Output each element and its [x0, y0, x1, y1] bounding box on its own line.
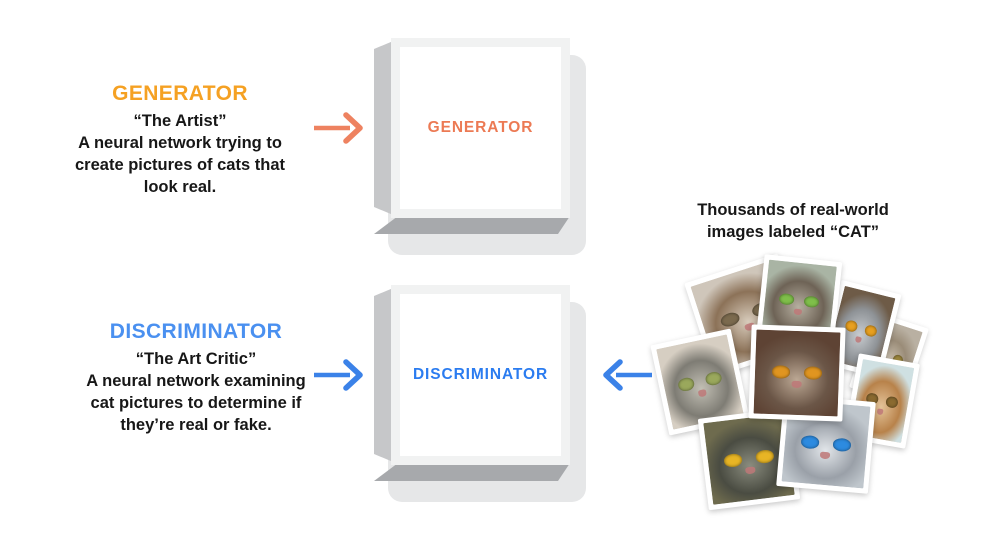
- cat-eye-r: [755, 449, 774, 463]
- discriminator-box-bottom-bevel: [374, 463, 570, 481]
- generator-box-face: GENERATOR: [391, 38, 570, 218]
- generator-box-bottom-bevel: [374, 216, 570, 234]
- cat-nose: [697, 389, 707, 397]
- dataset-caption-line-1: Thousands of real-world: [672, 200, 914, 222]
- cat-eye-r: [832, 438, 851, 452]
- discriminator-box-label: DISCRIMINATOR: [413, 366, 548, 384]
- cat-eye-l: [719, 310, 741, 329]
- discriminator-box: DISCRIMINATOR: [374, 277, 586, 505]
- cat-nose: [793, 308, 802, 315]
- generator-description-block: GENERATOR “The Artist” A neural network …: [56, 80, 304, 199]
- cat-eye-l: [778, 293, 794, 306]
- cat-eye-l: [772, 365, 791, 378]
- discriminator-box-inner: DISCRIMINATOR: [400, 294, 561, 456]
- cat-photo-collage: [655, 258, 905, 508]
- discriminator-box-face: DISCRIMINATOR: [391, 285, 570, 465]
- generator-heading: GENERATOR: [56, 80, 304, 108]
- cat-eye-r: [864, 324, 878, 338]
- cat-nose: [791, 381, 801, 388]
- cat-nose: [855, 336, 863, 343]
- generator-box-label: GENERATOR: [428, 119, 534, 137]
- cat-eye-r: [804, 367, 823, 380]
- discriminator-nickname: “The Art Critic”: [72, 349, 320, 371]
- generator-description-line-3: look real.: [56, 177, 304, 199]
- arrow-left-dataset-icon: [596, 355, 654, 400]
- cat-eye-r: [804, 296, 820, 309]
- discriminator-description-block: DISCRIMINATOR “The Art Critic” A neural …: [72, 318, 320, 437]
- arrow-right-generator-icon: [312, 108, 370, 153]
- dataset-caption-line-2: images labeled “CAT”: [672, 222, 914, 244]
- generator-description-line-1: A neural network trying to: [56, 133, 304, 155]
- cat-eye-r: [885, 396, 898, 409]
- cat-eye-l: [677, 377, 695, 392]
- generator-nickname: “The Artist”: [56, 111, 304, 133]
- discriminator-description-line-1: A neural network examining: [72, 371, 320, 393]
- cat-eye-l: [724, 453, 743, 467]
- cat-eye-l: [801, 435, 820, 449]
- generator-description-line-2: create pictures of cats that: [56, 155, 304, 177]
- cat-photo-cat-under-blanket-center: [748, 324, 845, 421]
- discriminator-description-line-3: they’re real or fake.: [72, 415, 320, 437]
- cat-eye-r: [704, 371, 722, 386]
- cat-photo-image: [754, 330, 841, 417]
- discriminator-heading: DISCRIMINATOR: [72, 318, 320, 346]
- cat-nose: [877, 408, 884, 415]
- cat-eye-l: [845, 319, 859, 333]
- generator-box-inner: GENERATOR: [400, 47, 561, 209]
- generator-box: GENERATOR: [374, 30, 586, 255]
- arrow-right-discriminator-icon: [312, 355, 370, 400]
- discriminator-description-line-2: cat pictures to determine if: [72, 393, 320, 415]
- cat-nose: [745, 467, 756, 475]
- diagram-canvas: GENERATOR “The Artist” A neural network …: [0, 0, 982, 549]
- cat-nose: [820, 452, 830, 459]
- dataset-caption: Thousands of real-world images labeled “…: [672, 200, 914, 244]
